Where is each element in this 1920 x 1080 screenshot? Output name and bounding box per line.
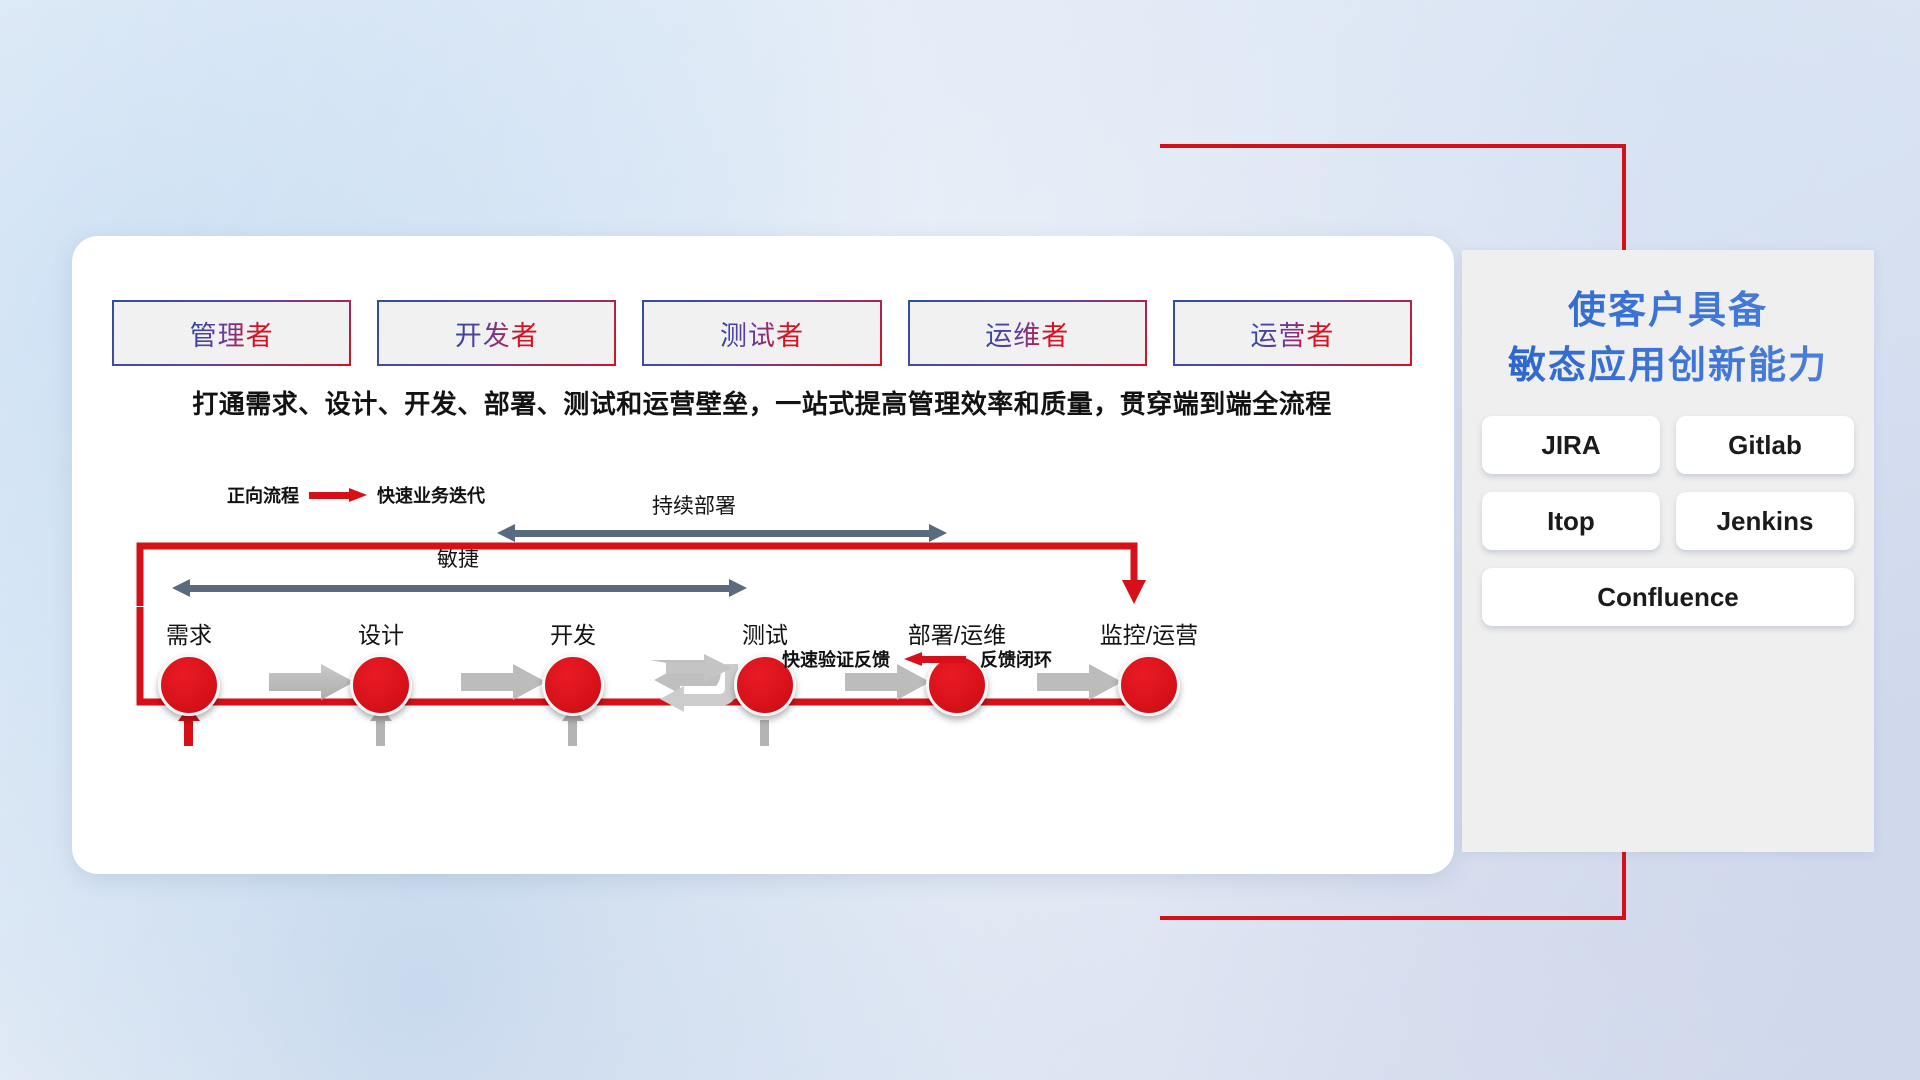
stage-design[interactable]: 设计 — [326, 616, 436, 716]
pipeline-row: 需求 设计 — [106, 616, 1418, 726]
tools-grid: JIRA Gitlab Itop Jenkins Confluence — [1462, 416, 1874, 626]
legend-forward-flow: 正向流程 快速业务迭代 — [227, 482, 485, 508]
stage-monitor-operations[interactable]: 监控/运营 — [1094, 616, 1204, 716]
tool-chip-gitlab[interactable]: Gitlab — [1676, 416, 1854, 474]
stage-dot-icon — [542, 654, 604, 716]
double-arrow-continuous-deployment-icon — [497, 524, 947, 542]
tools-title-line-1: 使客户具备 — [1462, 284, 1874, 339]
tool-chip-jenkins[interactable]: Jenkins — [1676, 492, 1854, 550]
tool-chip-confluence[interactable]: Confluence — [1482, 568, 1854, 626]
tool-chip-itop[interactable]: Itop — [1482, 492, 1660, 550]
span-label-continuous-deployment: 持续部署 — [652, 490, 736, 520]
stage-label: 部署/运维 — [902, 616, 1012, 650]
role-label: 运维者 — [985, 314, 1069, 353]
stage-dot-icon — [1118, 654, 1180, 716]
stem-design — [376, 720, 385, 746]
arrow-right-red-icon — [309, 488, 367, 502]
role-box-developer[interactable]: 开发者 — [377, 300, 616, 366]
description-text: 打通需求、设计、开发、部署、测试和运营壁垒，一站式提高管理效率和质量，贯穿端到端… — [112, 384, 1412, 421]
role-label: 运营者 — [1250, 314, 1334, 353]
devops-flow-card: 管理者 开发者 测试者 运维者 运营者 打通需求、设计、开发、部署、测试和运营壁… — [72, 236, 1454, 874]
stage-requirement[interactable]: 需求 — [134, 616, 244, 716]
stage-label: 开发 — [518, 616, 628, 650]
legend-forward-from: 正向流程 — [227, 482, 299, 508]
stem-development — [568, 720, 577, 746]
stem-testing — [760, 720, 769, 746]
stage-dot-icon — [350, 654, 412, 716]
slide-canvas: 管理者 开发者 测试者 运维者 运营者 打通需求、设计、开发、部署、测试和运营壁… — [0, 0, 1920, 1080]
double-arrow-agile-icon — [172, 579, 747, 597]
stage-label: 设计 — [326, 616, 436, 650]
legend-feedback-loop: 快速验证反馈 反馈闭环 — [782, 646, 1052, 672]
arrow-left-red-icon — [904, 652, 966, 666]
tools-panel: 使客户具备 敏态应用创新能力 JIRA Gitlab Itop Jenkins … — [1462, 250, 1874, 852]
role-boxes-row: 管理者 开发者 测试者 运维者 运营者 — [112, 300, 1412, 366]
role-label: 开发者 — [455, 314, 539, 353]
span-label-agile: 敏捷 — [437, 543, 479, 573]
role-box-manager[interactable]: 管理者 — [112, 300, 351, 366]
stage-dot-icon — [158, 654, 220, 716]
role-box-operations[interactable]: 运营者 — [1173, 300, 1412, 366]
stage-label: 测试 — [710, 616, 820, 650]
role-box-tester[interactable]: 测试者 — [642, 300, 881, 366]
legend-feedback-to: 反馈闭环 — [980, 646, 1052, 672]
tools-title-line-2: 敏态应用创新能力 — [1462, 339, 1874, 394]
role-label: 测试者 — [720, 314, 804, 353]
legend-feedback-from: 快速验证反馈 — [782, 646, 890, 672]
tool-chip-jira[interactable]: JIRA — [1482, 416, 1660, 474]
stage-label: 需求 — [134, 616, 244, 650]
role-label: 管理者 — [190, 314, 274, 353]
tools-panel-title: 使客户具备 敏态应用创新能力 — [1462, 250, 1874, 394]
legend-forward-to: 快速业务迭代 — [377, 482, 485, 508]
role-box-ops-engineer[interactable]: 运维者 — [908, 300, 1147, 366]
stage-label: 监控/运营 — [1094, 616, 1204, 650]
stage-development[interactable]: 开发 — [518, 616, 628, 716]
stem-requirement — [184, 720, 193, 746]
